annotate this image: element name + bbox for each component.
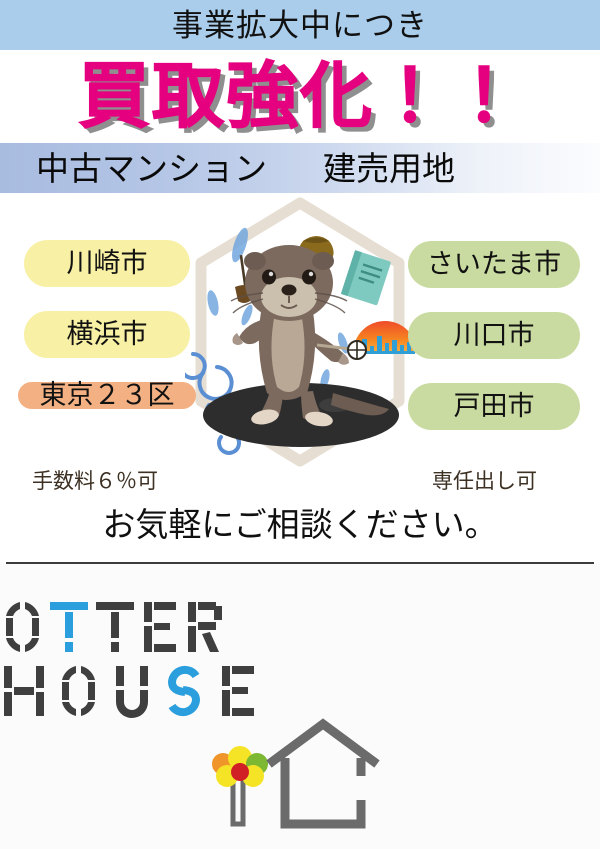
area-tag-label: 横浜市 — [67, 321, 148, 348]
house-with-tree-icon — [205, 714, 395, 834]
otter-illustration — [185, 193, 417, 463]
area-tag-kawasaki[interactable]: 川崎市 — [24, 240, 190, 287]
cta-text: お気軽にご相談ください。 — [0, 508, 600, 541]
logo-accent-letter-t — [50, 602, 88, 652]
area-tag-toda[interactable]: 戸田市 — [408, 383, 580, 430]
area-tag-tokyo-23-wards[interactable]: 東京２３区 — [18, 382, 196, 409]
area-tag-label: 川崎市 — [67, 250, 148, 277]
logo-section — [0, 564, 600, 849]
tree-leaf-red — [231, 763, 249, 781]
area-tag-kawaguchi[interactable]: 川口市 — [408, 312, 580, 359]
book-icon — [341, 250, 391, 305]
eyebrow-band: 事業拡大中につき — [0, 0, 600, 50]
logo-wordmark — [0, 598, 600, 718]
note-exclusive-listing: 専任出し可 — [432, 471, 537, 492]
middle-section: 川崎市 横浜市 東京２３区 さいたま市 川口市 戸田市 手数料６％可 専任出し可… — [0, 193, 600, 562]
category-label-building-land: 建売用地 — [323, 152, 455, 185]
area-tag-label: さいたま市 — [427, 251, 561, 278]
area-tag-saitama[interactable]: さいたま市 — [408, 241, 580, 288]
area-tag-label: 川口市 — [454, 322, 535, 349]
note-commission-fee: 手数料６％可 — [32, 471, 158, 492]
poster: 事業拡大中につき 買取強化！！ 中古マンション 建売用地 — [0, 0, 600, 849]
category-label-used-condo: 中古マンション — [36, 152, 267, 185]
area-tag-yokohama[interactable]: 横浜市 — [24, 311, 190, 358]
area-tag-label: 東京２３区 — [40, 382, 175, 409]
headline-text: 買取強化！！ — [78, 61, 522, 133]
logo-text-otter — [0, 598, 252, 654]
category-band: 中古マンション 建売用地 — [0, 143, 600, 193]
area-tag-label: 戸田市 — [454, 393, 535, 420]
eyebrow-text: 事業拡大中につき — [172, 10, 428, 41]
logo-text-house — [0, 662, 290, 718]
headline-band: 買取強化！！ — [0, 50, 600, 143]
logo-accent-letter-s — [172, 670, 196, 712]
